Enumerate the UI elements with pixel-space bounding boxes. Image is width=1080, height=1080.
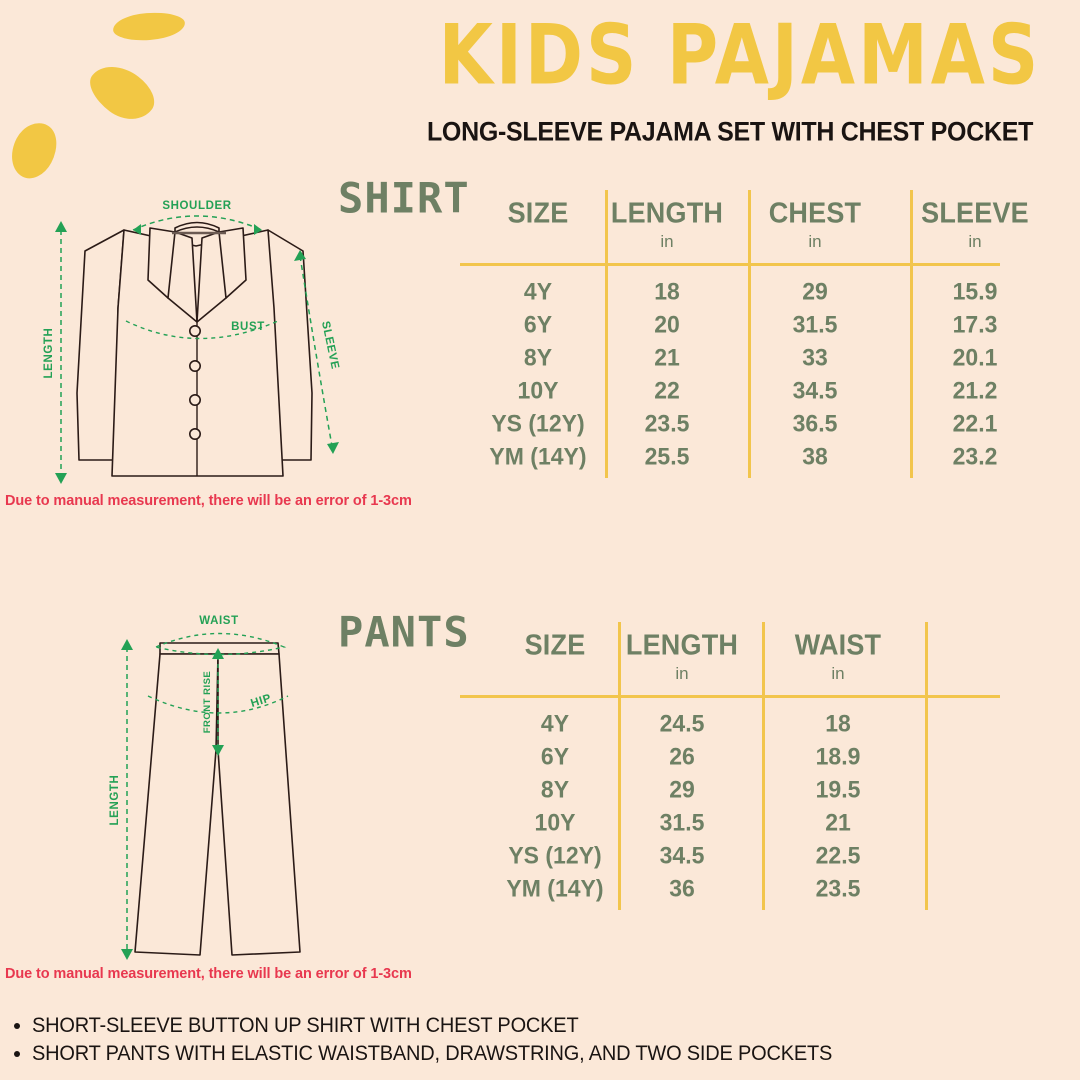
table-header-rule (460, 695, 1000, 698)
table-cell: 33 (725, 343, 905, 372)
page-title: KIDS PAJAMAS (420, 14, 1060, 97)
page-subtitle: LONG-SLEEVE PAJAMA SET WITH CHEST POCKET (400, 117, 1060, 148)
pants-section-title: PANTS (338, 609, 470, 657)
pants-disclaimer: Due to manual measurement, there will be… (5, 966, 412, 982)
shirt-sleeve-label: SLEEVE (319, 320, 341, 370)
table-cell: 18.9 (748, 742, 928, 771)
table-cell: 24.5 (592, 709, 772, 738)
pants-waist-label: WAIST (199, 615, 238, 627)
table-cell: 36.5 (725, 409, 905, 438)
decorative-blob-icon (81, 54, 162, 131)
list-item-label: SHORT PANTS WITH ELASTIC WAISTBAND, DRAW… (32, 1042, 832, 1066)
table-cell: 18 (748, 709, 928, 738)
table-cell: 22.5 (748, 841, 928, 870)
table-cell: 21 (748, 808, 928, 837)
table-cell: 29 (592, 775, 772, 804)
table-column-unit: in (725, 232, 905, 252)
table-cell: 31.5 (725, 310, 905, 339)
shirt-bust-label: BUST (231, 321, 265, 333)
table-cell: 20.1 (885, 343, 1065, 372)
shirt-diagram: SHOULDER LENGTH BUST SLEEVE (0, 188, 360, 488)
table-column-unit: in (592, 664, 772, 684)
table-cell: 29 (725, 277, 905, 306)
table-column-header: SLEEVE (885, 197, 1065, 230)
list-item-label: SHORT-SLEEVE BUTTON UP SHIRT WITH CHEST … (32, 1014, 578, 1038)
pants-front-rise-label: FRONT RISE (202, 671, 213, 734)
size-chart-page: KIDS PAJAMAS LONG-SLEEVE PAJAMA SET WITH… (0, 0, 1080, 1080)
table-cell: 34.5 (592, 841, 772, 870)
bullet-dot-icon (14, 1051, 20, 1057)
table-cell: 26 (592, 742, 772, 771)
decorative-blob-icon (2, 115, 66, 185)
table-column-header: WAIST (748, 629, 928, 662)
pants-size-table: SIZELENGTHinWAISTin4Y24.5186Y2618.98Y291… (460, 622, 1005, 912)
table-column-unit: in (748, 664, 928, 684)
shirt-shoulder-label: SHOULDER (162, 200, 231, 212)
table-cell: 23.2 (885, 442, 1065, 471)
pants-length-label: LENGTH (109, 775, 121, 826)
table-column-unit: in (885, 232, 1065, 252)
list-item: SHORT PANTS WITH ELASTIC WAISTBAND, DRAW… (14, 1042, 832, 1065)
table-cell: 38 (725, 442, 905, 471)
table-column-header: LENGTH (592, 629, 772, 662)
table-cell: 15.9 (885, 277, 1065, 306)
table-header-rule (460, 263, 1000, 266)
table-column-header: CHEST (725, 197, 905, 230)
feature-list: SHORT-SLEEVE BUTTON UP SHIRT WITH CHEST … (14, 1014, 832, 1070)
bullet-dot-icon (14, 1023, 20, 1029)
table-cell: 36 (592, 874, 772, 903)
table-cell: 22.1 (885, 409, 1065, 438)
shirt-length-label: LENGTH (43, 328, 55, 379)
shirt-size-table: SIZELENGTHinCHESTinSLEEVEin4Y182915.96Y2… (460, 190, 1005, 480)
list-item: SHORT-SLEEVE BUTTON UP SHIRT WITH CHEST … (14, 1014, 832, 1037)
table-cell: 19.5 (748, 775, 928, 804)
table-cell: 21.2 (885, 376, 1065, 405)
decorative-blob-icon (112, 11, 186, 43)
table-cell: 31.5 (592, 808, 772, 837)
shirt-disclaimer: Due to manual measurement, there will be… (5, 493, 412, 509)
table-cell: 34.5 (725, 376, 905, 405)
table-cell: 17.3 (885, 310, 1065, 339)
table-cell: 23.5 (748, 874, 928, 903)
